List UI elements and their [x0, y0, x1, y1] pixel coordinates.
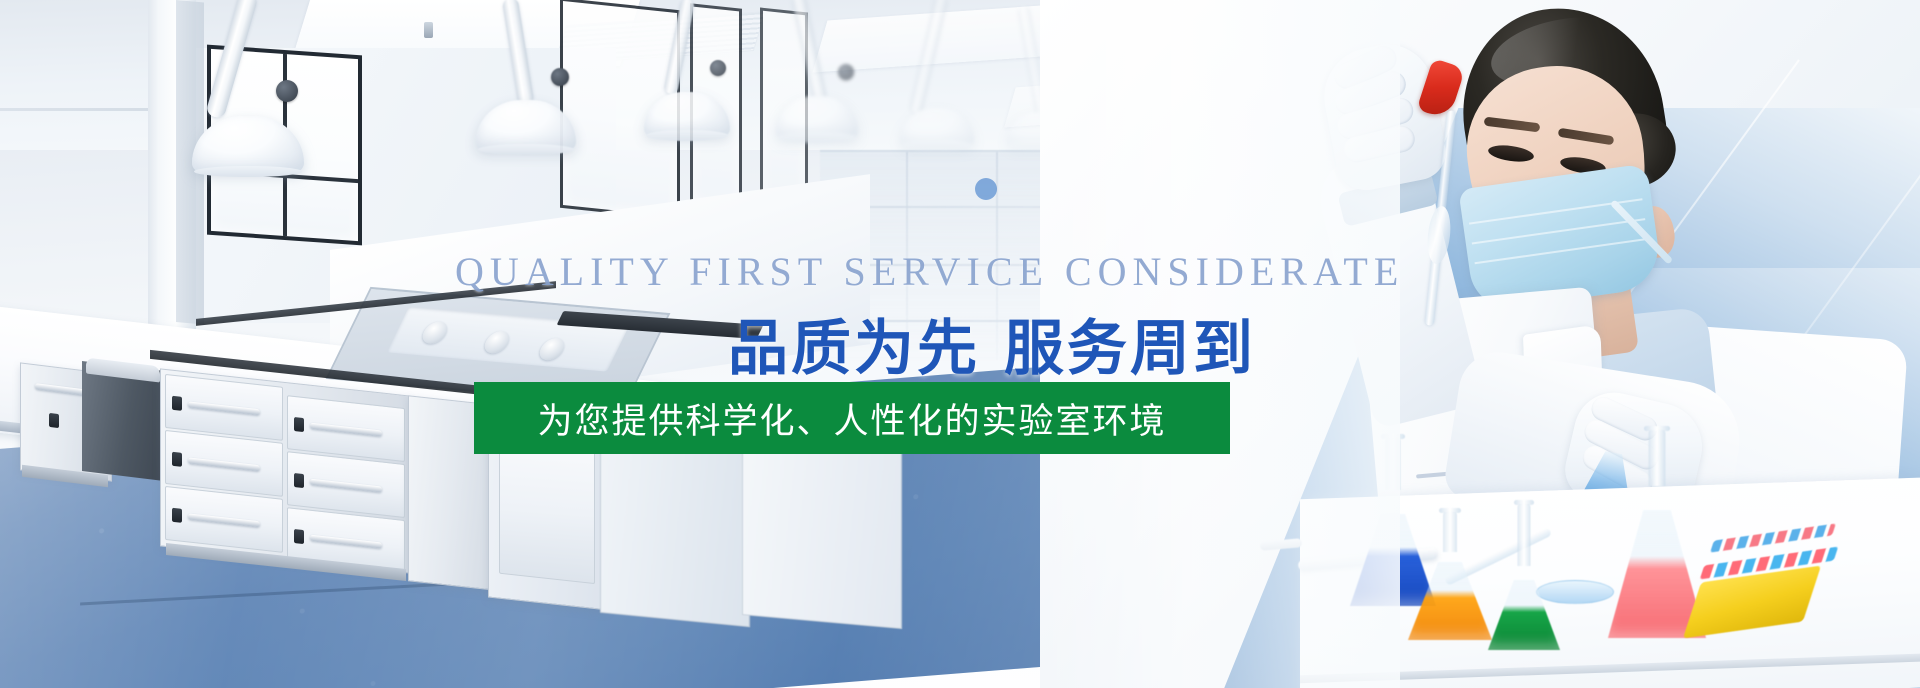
subtitle-band-text: 为您提供科学化、人性化的实验室环境 [537, 393, 1166, 444]
english-tagline: QUALITY FIRST SERVICE CONSIDERATE [455, 248, 1404, 295]
text-overlay: QUALITY FIRST SERVICE CONSIDERATE 品质为先 服… [0, 0, 1920, 688]
subtitle-band: 为您提供科学化、人性化的实验室环境 [474, 382, 1230, 454]
headline-chinese: 品质为先 服务周到 [728, 300, 1256, 387]
hero-banner: QUALITY FIRST SERVICE CONSIDERATE 品质为先 服… [0, 0, 1920, 688]
